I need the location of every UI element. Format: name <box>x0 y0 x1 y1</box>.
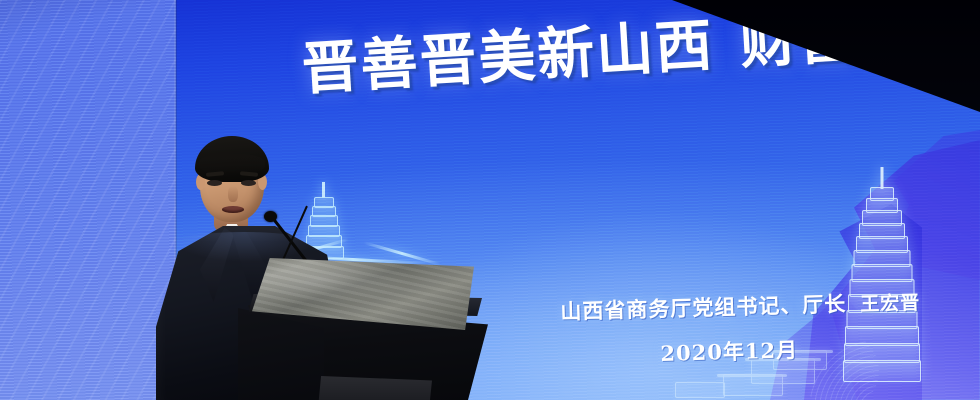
photograph: 晋善晋美新山西财富投资新高地 山西省商务厅党组书记、厅长王宏晋 2020年12月 <box>0 0 980 400</box>
headline-part-1: 晋善晋美新山西 <box>300 12 716 103</box>
microphone-head <box>264 211 277 222</box>
presenter-title: 山西省商务厅党组书记、厅长 <box>560 291 847 324</box>
ink-mountain-silhouette <box>884 130 980 280</box>
eye-left <box>207 180 222 186</box>
radial-fan-pattern <box>801 332 879 400</box>
pagoda-tower-line-art <box>844 167 920 392</box>
traditional-buildings-line-art <box>655 338 875 400</box>
lectern <box>238 250 488 400</box>
eye-right <box>241 180 256 186</box>
ink-mountain-silhouette <box>830 140 980 400</box>
presentation-date: 2020年12月 <box>660 334 798 368</box>
ink-mountain-silhouette <box>770 292 860 400</box>
presenter-name: 王宏晋 <box>860 292 921 316</box>
led-screen-backdrop: 晋善晋美新山西财富投资新高地 山西省商务厅党组书记、厅长王宏晋 2020年12月 <box>0 0 980 400</box>
presenter-line: 山西省商务厅党组书记、厅长王宏晋 <box>560 286 921 326</box>
mouth <box>222 206 244 213</box>
ink-mountain-silhouette <box>804 204 922 400</box>
nose <box>228 186 238 202</box>
